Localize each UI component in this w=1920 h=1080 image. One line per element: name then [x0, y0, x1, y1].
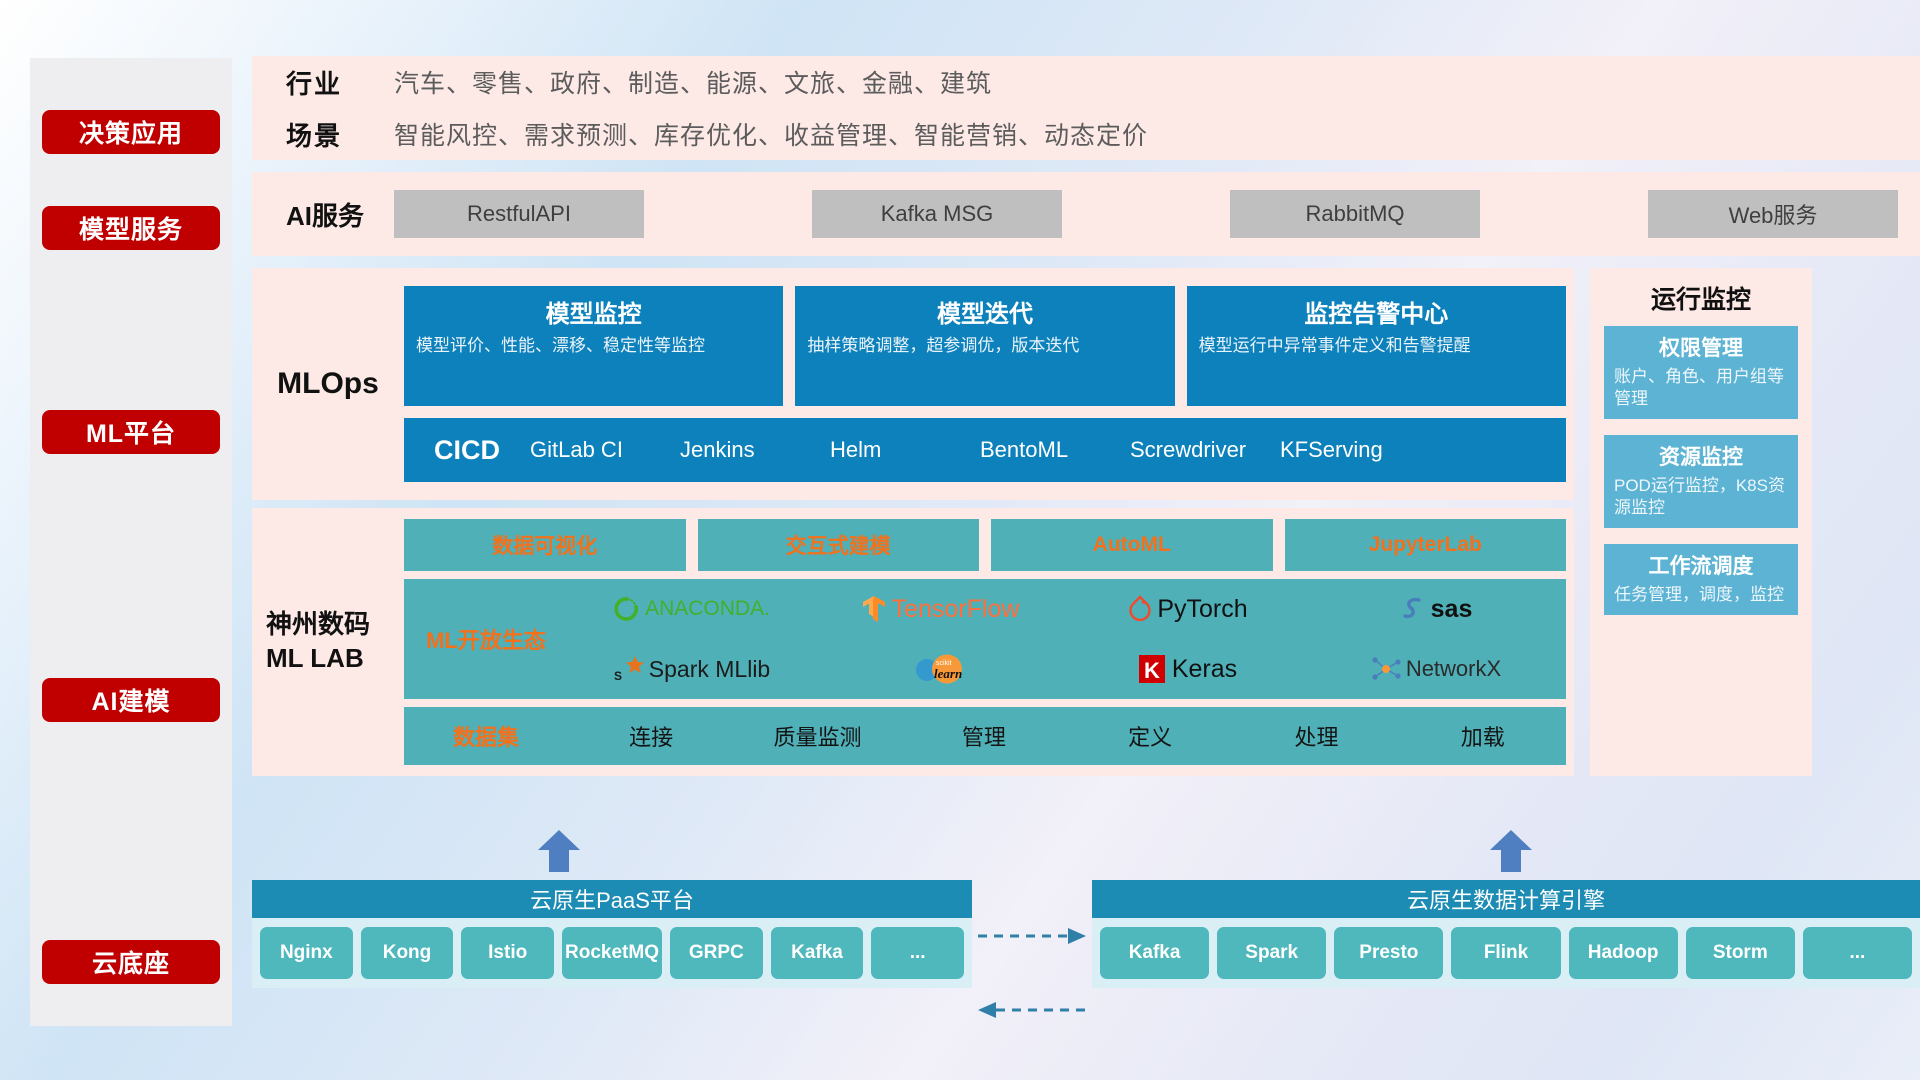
- dataset-item-manage[interactable]: 管理: [901, 720, 1067, 752]
- rail-chip-decision[interactable]: 决策应用: [42, 110, 220, 154]
- pytorch-wordmark: PyTorch: [1157, 595, 1247, 624]
- monitoring-card-permissions[interactable]: 权限管理 账户、角色、用户组等管理: [1604, 326, 1798, 419]
- dataset-item-quality[interactable]: 质量监测: [734, 720, 900, 752]
- svg-text:learn: learn: [934, 666, 962, 681]
- cloud-paas-chip-group: Nginx Kong Istio RocketMQ GRPC Kafka ...: [252, 918, 972, 988]
- scenario-values: 智能风控、需求预测、库存优化、收益管理、智能营销、动态定价: [394, 116, 1148, 152]
- service-chip-web[interactable]: Web服务: [1648, 190, 1898, 238]
- service-chip-kafka-msg[interactable]: Kafka MSG: [812, 190, 1062, 238]
- ai-service-label: AI服务: [286, 196, 394, 233]
- cicd-item-group: GitLab CI Jenkins Helm BentoML Screwdriv…: [530, 437, 1566, 462]
- ml-lab-label-line1: 神州数码: [266, 608, 404, 642]
- mlops-panel: MLOps 模型监控 模型评价、性能、漂移、稳定性等监控 模型迭代 抽样策略调整…: [252, 268, 1574, 500]
- ai-service-chip-group: RestfulAPI Kafka MSG RabbitMQ Web服务: [394, 190, 1920, 238]
- compute-chip-hadoop[interactable]: Hadoop: [1569, 927, 1678, 979]
- industry-values: 汽车、零售、政府、制造、能源、文旅、金融、建筑: [394, 64, 992, 100]
- ml-lab-label: 神州数码 ML LAB: [252, 608, 404, 676]
- spark-mllib-wordmark: Spark MLlib: [649, 656, 770, 683]
- cloud-chip-nginx[interactable]: Nginx: [260, 927, 353, 979]
- rail-chip-label: 云底座: [92, 944, 170, 980]
- cloud-chip-grpc[interactable]: GRPC: [670, 927, 763, 979]
- industry-row: 行业 汽车、零售、政府、制造、能源、文旅、金融、建筑: [252, 56, 1920, 108]
- pytorch-icon: [1128, 595, 1152, 623]
- mlops-card-model-monitoring[interactable]: 模型监控 模型评价、性能、漂移、稳定性等监控: [404, 286, 783, 406]
- cloud-compute-panel: 云原生数据计算引擎 Kafka Spark Presto Flink Hadoo…: [1092, 880, 1920, 1028]
- anaconda-logo: ANACONDA.: [614, 596, 770, 622]
- compute-chip-storm[interactable]: Storm: [1686, 927, 1795, 979]
- networkx-logo: NetworkX: [1371, 655, 1501, 683]
- spark-mllib-logo: S Spark MLlib: [614, 655, 770, 683]
- lab-tab-automl[interactable]: AutoML: [991, 519, 1273, 571]
- bidirectional-connector: [972, 918, 1092, 1028]
- mlops-label: MLOps: [252, 367, 404, 401]
- cloud-compute-title: 云原生数据计算引擎: [1092, 880, 1920, 918]
- dataset-item-load[interactable]: 加载: [1400, 720, 1566, 752]
- compute-chip-presto[interactable]: Presto: [1334, 927, 1443, 979]
- dataset-item-process[interactable]: 处理: [1233, 720, 1399, 752]
- cicd-item-kfserving[interactable]: KFServing: [1280, 437, 1430, 462]
- cicd-bar: CICD GitLab CI Jenkins Helm BentoML Scre…: [404, 418, 1566, 482]
- cloud-compute-chip-group: Kafka Spark Presto Flink Hadoop Storm ..…: [1092, 918, 1920, 988]
- anaconda-icon: [614, 596, 640, 622]
- card-desc: POD运行监控，K8S资源监控: [1614, 475, 1788, 519]
- dataset-item-define[interactable]: 定义: [1067, 720, 1233, 752]
- compute-chip-flink[interactable]: Flink: [1451, 927, 1560, 979]
- card-title: 模型监控: [416, 294, 771, 329]
- application-layer-panel: 行业 汽车、零售、政府、制造、能源、文旅、金融、建筑 场景 智能风控、需求预测、…: [252, 56, 1920, 160]
- cicd-item-screwdriver[interactable]: Screwdriver: [1130, 437, 1280, 462]
- scenario-row: 场景 智能风控、需求预测、库存优化、收益管理、智能营销、动态定价: [252, 108, 1920, 160]
- monitoring-panel: 运行监控 权限管理 账户、角色、用户组等管理 资源监控 POD运行监控，K8S资…: [1590, 268, 1812, 776]
- monitoring-card-resources[interactable]: 资源监控 POD运行监控，K8S资源监控: [1604, 435, 1798, 528]
- card-desc: 账户、角色、用户组等管理: [1614, 366, 1788, 410]
- cicd-item-helm[interactable]: Helm: [830, 437, 980, 462]
- keras-wordmark: Keras: [1172, 655, 1237, 684]
- service-chip-rabbitmq[interactable]: RabbitMQ: [1230, 190, 1480, 238]
- compute-chip-kafka[interactable]: Kafka: [1100, 927, 1209, 979]
- rail-chip-label: AI建模: [91, 682, 170, 718]
- up-arrow-icon-compute: [1488, 828, 1534, 874]
- ml-ecosystem-bar: ML开放生态 ANACONDA. Ten: [404, 579, 1566, 699]
- ml-lab-label-line2: ML LAB: [266, 642, 404, 676]
- cloud-chip-istio[interactable]: Istio: [461, 927, 554, 979]
- rail-chip-model-service[interactable]: 模型服务: [42, 206, 220, 250]
- service-chip-restfulapi[interactable]: RestfulAPI: [394, 190, 644, 238]
- compute-chip-more[interactable]: ...: [1803, 927, 1912, 979]
- scikit-learn-logo: scikit learn: [914, 654, 966, 684]
- cloud-chip-rocketmq[interactable]: RocketMQ: [562, 927, 662, 979]
- networkx-icon: [1371, 655, 1401, 683]
- card-title: 权限管理: [1614, 332, 1788, 362]
- dataset-title: 数据集: [404, 720, 568, 752]
- dataset-item-group: 连接 质量监测 管理 定义 处理 加载: [568, 720, 1566, 752]
- ml-ecosystem-title: ML开放生态: [404, 623, 568, 655]
- cloud-paas-title: 云原生PaaS平台: [252, 880, 972, 918]
- monitoring-card-workflow[interactable]: 工作流调度 任务管理，调度，监控: [1604, 544, 1798, 615]
- sas-wordmark: sas: [1431, 595, 1473, 624]
- card-desc: 模型运行中异常事件定义和告警提醒: [1199, 335, 1554, 357]
- lab-tab-interactive-modeling[interactable]: 交互式建模: [698, 519, 980, 571]
- mlops-card-model-iteration[interactable]: 模型迭代 抽样策略调整，超参调优，版本迭代: [795, 286, 1174, 406]
- arrow-left-icon: [978, 1002, 996, 1018]
- cicd-item-bentoml[interactable]: BentoML: [980, 437, 1130, 462]
- cicd-item-gitlab-ci[interactable]: GitLab CI: [530, 437, 680, 462]
- industry-label: 行业: [286, 64, 394, 101]
- rail-chip-label: 决策应用: [79, 114, 183, 150]
- mlops-card-group: 模型监控 模型评价、性能、漂移、稳定性等监控 模型迭代 抽样策略调整，超参调优，…: [404, 286, 1566, 406]
- cloud-chip-kafka[interactable]: Kafka: [771, 927, 864, 979]
- svg-text:K: K: [1144, 658, 1160, 683]
- keras-icon: K: [1139, 654, 1167, 684]
- sas-logo: sas: [1400, 595, 1473, 624]
- up-arrow-icon-paas: [536, 828, 582, 874]
- cloud-paas-panel: 云原生PaaS平台 Nginx Kong Istio RocketMQ GRPC…: [252, 880, 972, 1028]
- monitoring-title: 运行监控: [1590, 268, 1812, 326]
- lab-tab-jupyterlab[interactable]: JupyterLab: [1285, 519, 1567, 571]
- cloud-chip-kong[interactable]: Kong: [361, 927, 454, 979]
- layer-rail: 决策应用 模型服务 ML平台 AI建模 云底座: [30, 58, 232, 1026]
- rail-chip-label: ML平台: [86, 414, 176, 450]
- networkx-wordmark: NetworkX: [1406, 656, 1501, 682]
- keras-logo: K Keras: [1139, 654, 1237, 684]
- cloud-chip-more[interactable]: ...: [871, 927, 964, 979]
- card-title: 资源监控: [1614, 441, 1788, 471]
- card-title: 工作流调度: [1614, 550, 1788, 580]
- dataset-bar: 数据集 连接 质量监测 管理 定义 处理 加载: [404, 707, 1566, 765]
- tensorflow-icon: [861, 595, 887, 623]
- rail-chip-label: 模型服务: [79, 210, 183, 246]
- card-title: 模型迭代: [807, 294, 1162, 329]
- card-desc: 抽样策略调整，超参调优，版本迭代: [807, 335, 1162, 357]
- ml-ecosystem-logo-grid: ANACONDA. TensorFlow: [568, 579, 1566, 699]
- card-title: 监控告警中心: [1199, 294, 1554, 329]
- tensorflow-logo: TensorFlow: [861, 595, 1020, 624]
- rail-chip-ml-platform[interactable]: ML平台: [42, 410, 220, 454]
- spark-icon: S: [614, 655, 644, 683]
- arrow-right-icon: [1068, 928, 1086, 944]
- svg-text:S: S: [614, 669, 622, 683]
- tensorflow-wordmark: TensorFlow: [892, 595, 1020, 624]
- cicd-item-jenkins[interactable]: Jenkins: [680, 437, 830, 462]
- lab-tab-data-visualization[interactable]: 数据可视化: [404, 519, 686, 571]
- ai-service-panel: AI服务 RestfulAPI Kafka MSG RabbitMQ Web服务: [252, 172, 1920, 256]
- rail-chip-ai-modeling[interactable]: AI建模: [42, 678, 220, 722]
- card-desc: 模型评价、性能、漂移、稳定性等监控: [416, 335, 771, 357]
- cicd-title: CICD: [404, 435, 530, 466]
- pytorch-logo: PyTorch: [1128, 595, 1247, 624]
- rail-chip-cloud-base[interactable]: 云底座: [42, 940, 220, 984]
- ml-lab-tab-group: 数据可视化 交互式建模 AutoML JupyterLab: [404, 519, 1566, 571]
- dataset-item-connect[interactable]: 连接: [568, 720, 734, 752]
- scenario-label: 场景: [286, 116, 394, 153]
- compute-chip-spark[interactable]: Spark: [1217, 927, 1326, 979]
- ml-lab-panel: 神州数码 ML LAB 数据可视化 交互式建模 AutoML JupyterLa…: [252, 508, 1574, 776]
- mlops-card-alert-center[interactable]: 监控告警中心 模型运行中异常事件定义和告警提醒: [1187, 286, 1566, 406]
- scikit-learn-icon: scikit learn: [914, 654, 966, 684]
- card-desc: 任务管理，调度，监控: [1614, 584, 1788, 606]
- sas-icon: [1400, 595, 1426, 623]
- anaconda-wordmark: ANACONDA.: [645, 597, 770, 621]
